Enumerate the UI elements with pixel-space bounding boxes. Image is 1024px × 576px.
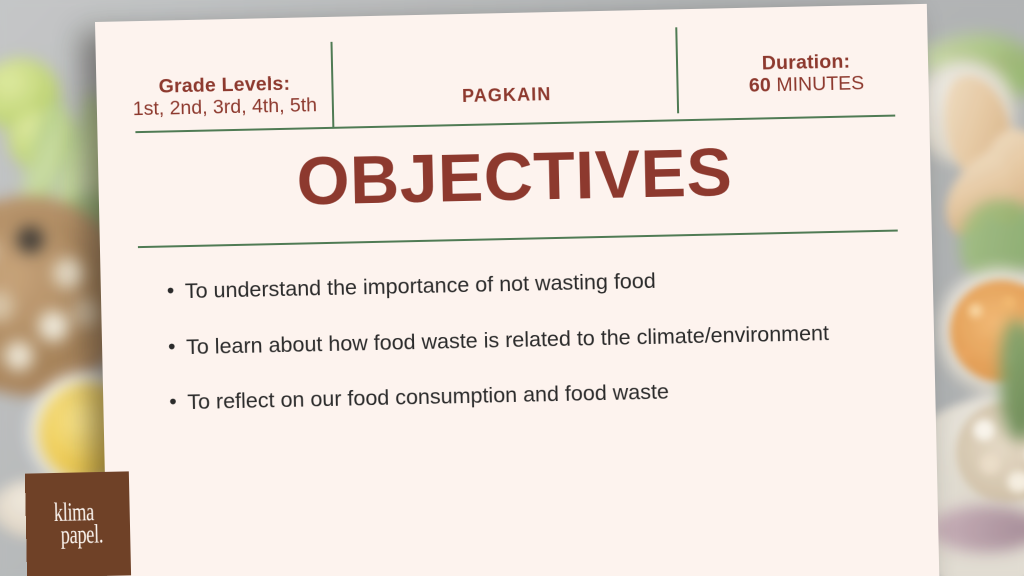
bullet-marker-icon: • [168, 334, 187, 362]
objectives-list: • To understand the importance of not wa… [167, 263, 870, 445]
header-subject: PAGKAIN [342, 81, 672, 108]
list-item: • To learn about how food waste is relat… [168, 319, 868, 362]
bullet-marker-icon: • [167, 278, 186, 306]
subject-title: PAGKAIN [342, 81, 672, 108]
logo-wordmark: klima papel. [53, 501, 103, 547]
duration-value: 60 MINUTES [686, 72, 926, 99]
header-grade-levels: Grade Levels: 1st, 2nd, 3rd, 4th, 5th [116, 73, 333, 121]
list-item-text: To reflect on our food consumption and f… [187, 379, 669, 417]
brand-logo: klima papel. [25, 471, 131, 576]
bullet-marker-icon: • [169, 389, 188, 417]
duration-amount: 60 [749, 74, 772, 96]
header-divider-vertical-right [675, 27, 679, 113]
header-duration: Duration: 60 MINUTES [686, 50, 927, 99]
duration-unit: MINUTES [776, 72, 864, 96]
title-divider-horizontal [138, 230, 898, 249]
list-item: • To understand the importance of not wa… [167, 263, 867, 306]
list-item-text: To learn about how food waste is related… [186, 320, 829, 362]
list-item-text: To understand the importance of not wast… [185, 268, 656, 306]
slide-header: Grade Levels: 1st, 2nd, 3rd, 4th, 5th PA… [95, 4, 929, 134]
grade-levels-value: 1st, 2nd, 3rd, 4th, 5th [117, 95, 333, 122]
slide-card: Grade Levels: 1st, 2nd, 3rd, 4th, 5th PA… [95, 4, 940, 576]
logo-line-2: papel. [54, 524, 103, 548]
list-item: • To reflect on our food consumption and… [169, 374, 869, 417]
page-title: OBJECTIVES [98, 129, 932, 225]
